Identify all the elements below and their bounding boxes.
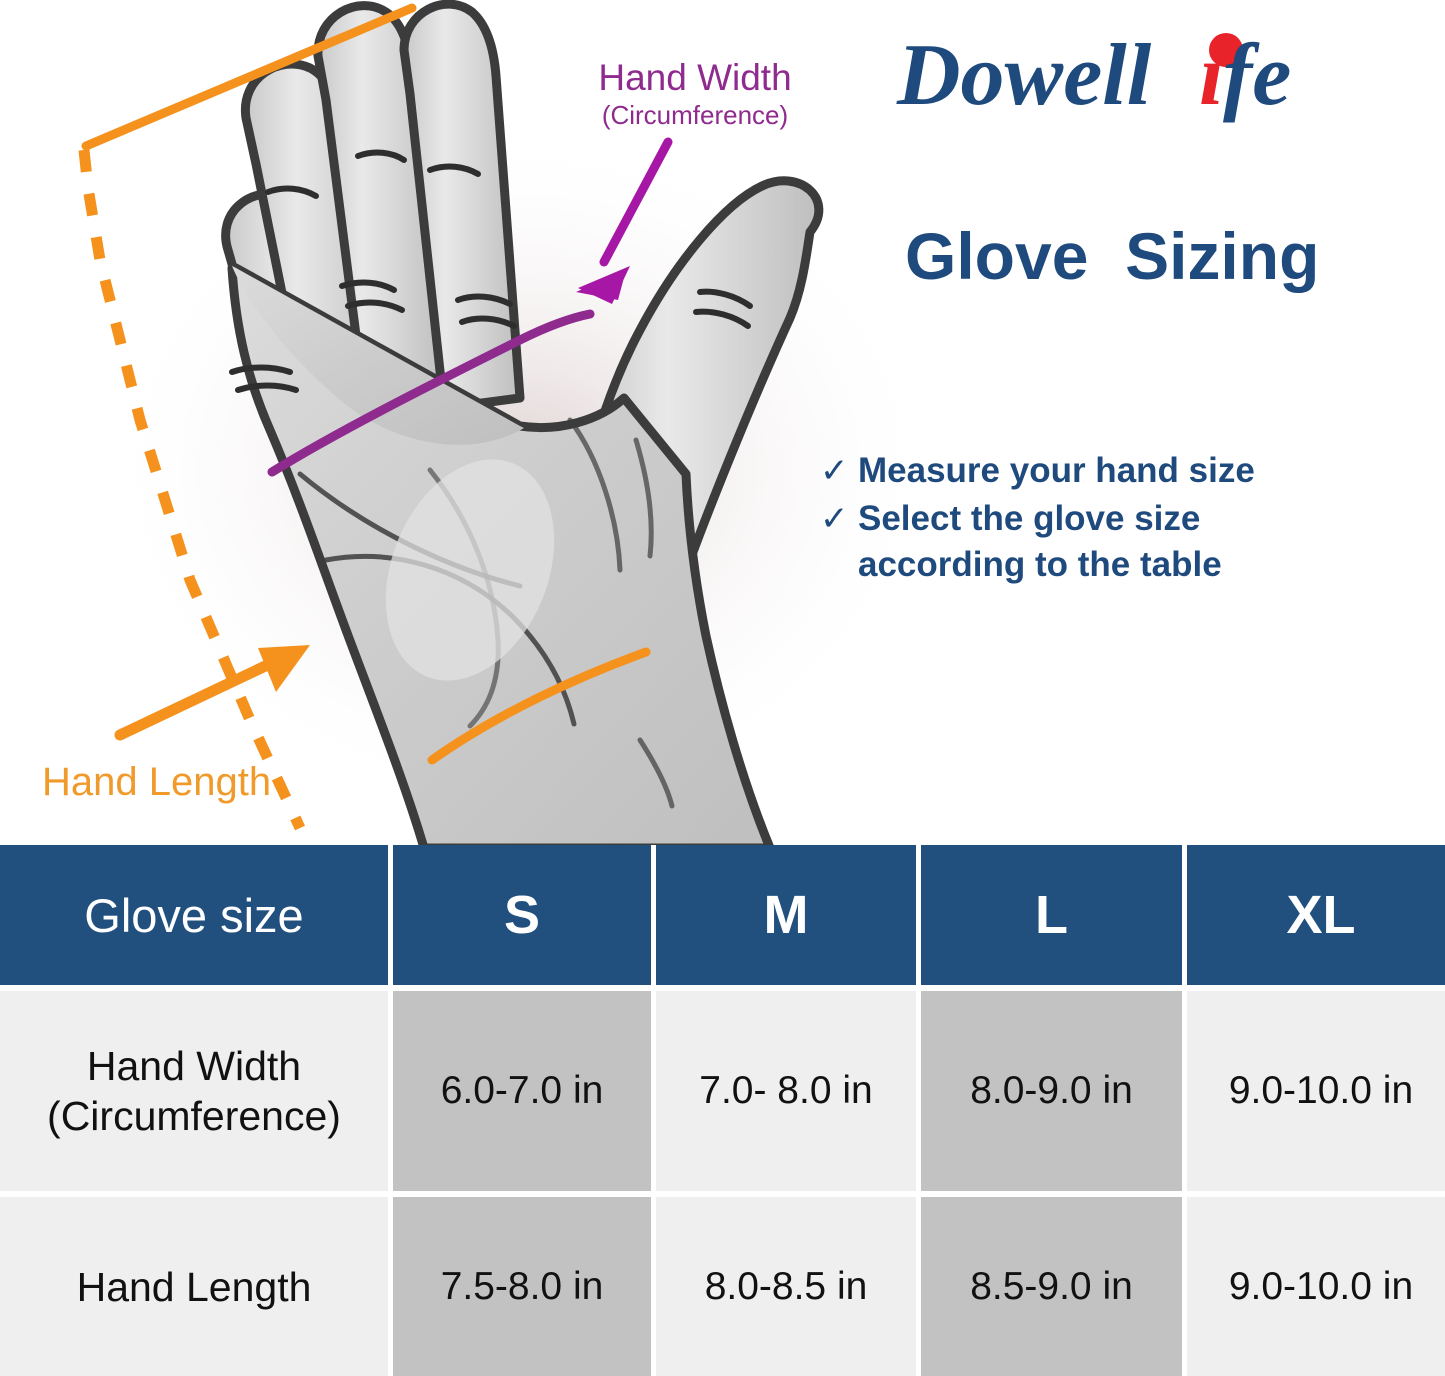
list-item: ✓ Measure your hand size bbox=[820, 448, 1390, 494]
page-title: Glove Sizing bbox=[905, 218, 1385, 294]
hand-width-label: Hand Width (Circumference) bbox=[545, 57, 845, 131]
header-cell-s: S bbox=[393, 845, 651, 985]
hand-width-label-line1: Hand Width bbox=[545, 57, 845, 99]
row-label-hand-width: Hand Width (Circumference) bbox=[0, 991, 388, 1191]
brand-text-fe: fe bbox=[1223, 27, 1291, 124]
cell-hand-width-s: 6.0-7.0 in bbox=[393, 991, 651, 1191]
hand-measurement-illustration: Dowell i fe Hand Width (Circumference) H… bbox=[0, 0, 1445, 845]
brand-logo: Dowell i fe bbox=[893, 22, 1363, 134]
header-cell-glove-size: Glove size bbox=[0, 845, 388, 985]
cell-hand-length-s: 7.5-8.0 in bbox=[393, 1197, 651, 1376]
glove-sizing-infographic: Dowell i fe Hand Width (Circumference) H… bbox=[0, 0, 1445, 1376]
row-label-line2: (Circumference) bbox=[47, 1091, 341, 1141]
cell-hand-length-m: 8.0-8.5 in bbox=[656, 1197, 916, 1376]
instruction-text-1: Measure your hand size bbox=[858, 448, 1255, 494]
sizing-table: Glove size S M L XL Hand Width (Circumfe… bbox=[0, 845, 1445, 1376]
cell-hand-length-l: 8.5-9.0 in bbox=[921, 1197, 1182, 1376]
checkmark-icon: ✓ bbox=[820, 496, 858, 542]
header-cell-l: L bbox=[921, 845, 1182, 985]
table-row: Hand Width (Circumference) 6.0-7.0 in 7.… bbox=[0, 991, 1445, 1191]
table-header-row: Glove size S M L XL bbox=[0, 845, 1445, 985]
list-item: ✓ Select the glove size according to the… bbox=[820, 496, 1390, 588]
row-label-line1: Hand Width bbox=[87, 1041, 301, 1091]
table-row: Hand Length 7.5-8.0 in 8.0-8.5 in 8.5-9.… bbox=[0, 1197, 1445, 1376]
row-label-hand-length: Hand Length bbox=[0, 1197, 388, 1376]
checkmark-icon: ✓ bbox=[820, 448, 858, 494]
instruction-text-2-line2: according to the table bbox=[858, 545, 1222, 584]
row-label-line1: Hand Length bbox=[77, 1262, 312, 1312]
cell-hand-width-l: 8.0-9.0 in bbox=[921, 991, 1182, 1191]
instruction-text-2: Select the glove size according to the t… bbox=[858, 496, 1222, 588]
cell-hand-width-xl: 9.0-10.0 in bbox=[1187, 991, 1445, 1191]
cell-hand-width-m: 7.0- 8.0 in bbox=[656, 991, 916, 1191]
hand-length-label: Hand Length bbox=[42, 760, 271, 805]
header-cell-m: M bbox=[656, 845, 916, 985]
cell-hand-length-xl: 9.0-10.0 in bbox=[1187, 1197, 1445, 1376]
instructions-list: ✓ Measure your hand size ✓ Select the gl… bbox=[820, 448, 1390, 590]
header-cell-xl: XL bbox=[1187, 845, 1445, 985]
brand-text-dow: Dowell bbox=[896, 27, 1152, 124]
dowellife-wordmark: Dowell i fe bbox=[893, 22, 1363, 134]
instruction-text-2-line1: Select the glove size bbox=[858, 499, 1200, 538]
hand-width-label-line2: (Circumference) bbox=[545, 99, 845, 131]
